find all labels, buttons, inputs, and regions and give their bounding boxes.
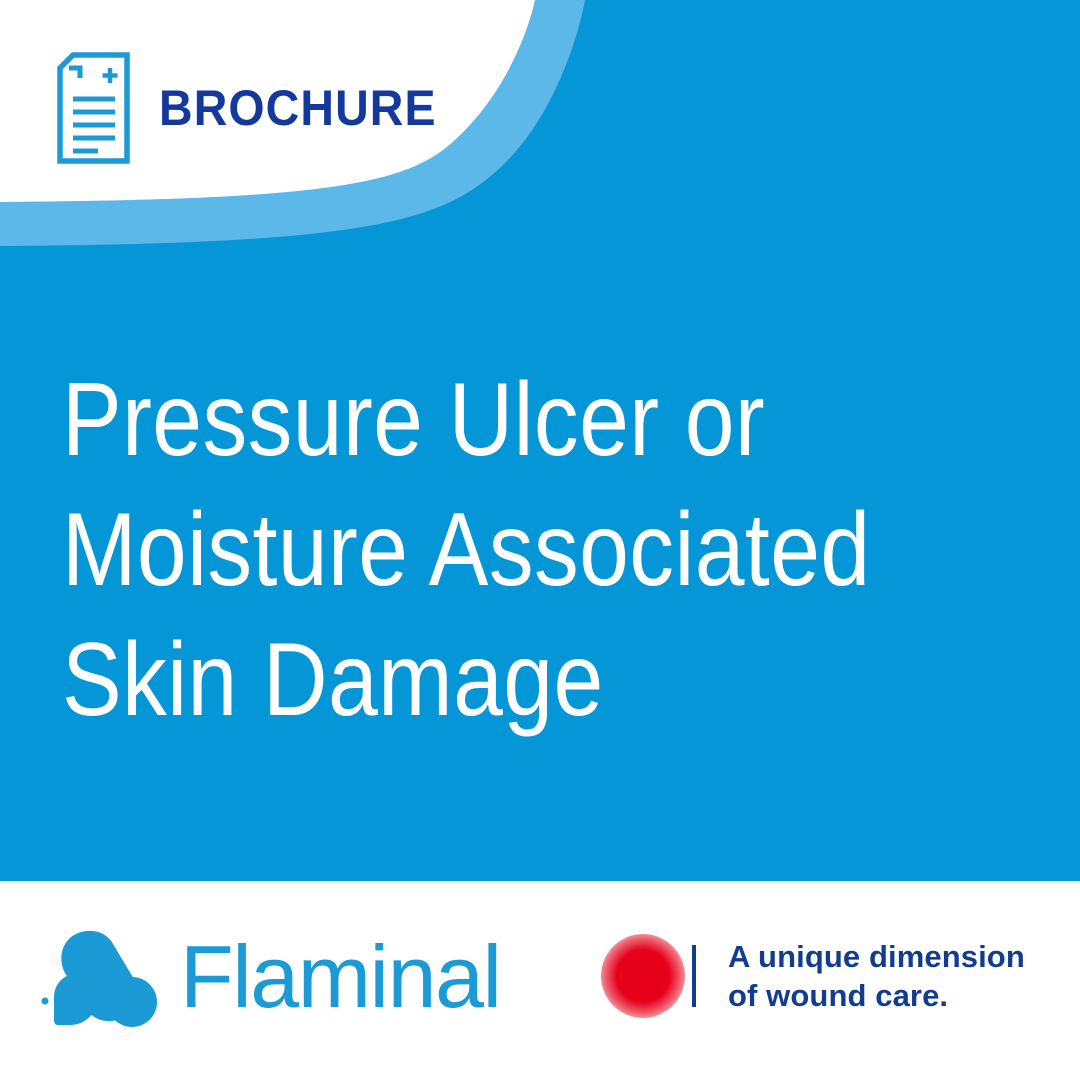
brochure-badge-label: BROCHURE xyxy=(159,83,437,133)
page-title: Pressure Ulcer or Moisture Associated Sk… xyxy=(62,355,1022,745)
flaminal-wordmark: Flaminal xyxy=(180,933,501,1021)
tagline-text: A unique dimension of wound care. xyxy=(728,937,1025,1015)
title-line-3: Skin Damage xyxy=(62,615,888,745)
document-plus-icon xyxy=(55,52,133,164)
brochure-badge: BROCHURE xyxy=(55,52,458,164)
brochure-cover: BROCHURE Pressure Ulcer or Moisture Asso… xyxy=(0,0,1080,1081)
title-line-2: Moisture Associated xyxy=(62,485,888,615)
footer-bar: Flaminal A unique dimension of wound car… xyxy=(0,881,1080,1081)
red-dot-icon xyxy=(600,933,686,1019)
red-dot-glow xyxy=(601,934,685,1018)
tagline-lockup: A unique dimension of wound care. xyxy=(600,933,1025,1019)
tagline-line-2: of wound care. xyxy=(728,976,1025,1015)
vertical-divider xyxy=(692,945,696,1007)
flaminal-logo: Flaminal xyxy=(40,929,501,1033)
title-line-1: Pressure Ulcer or xyxy=(62,355,888,485)
tagline-line-1: A unique dimension xyxy=(728,937,1025,976)
flaminal-logo-mark xyxy=(40,929,168,1033)
